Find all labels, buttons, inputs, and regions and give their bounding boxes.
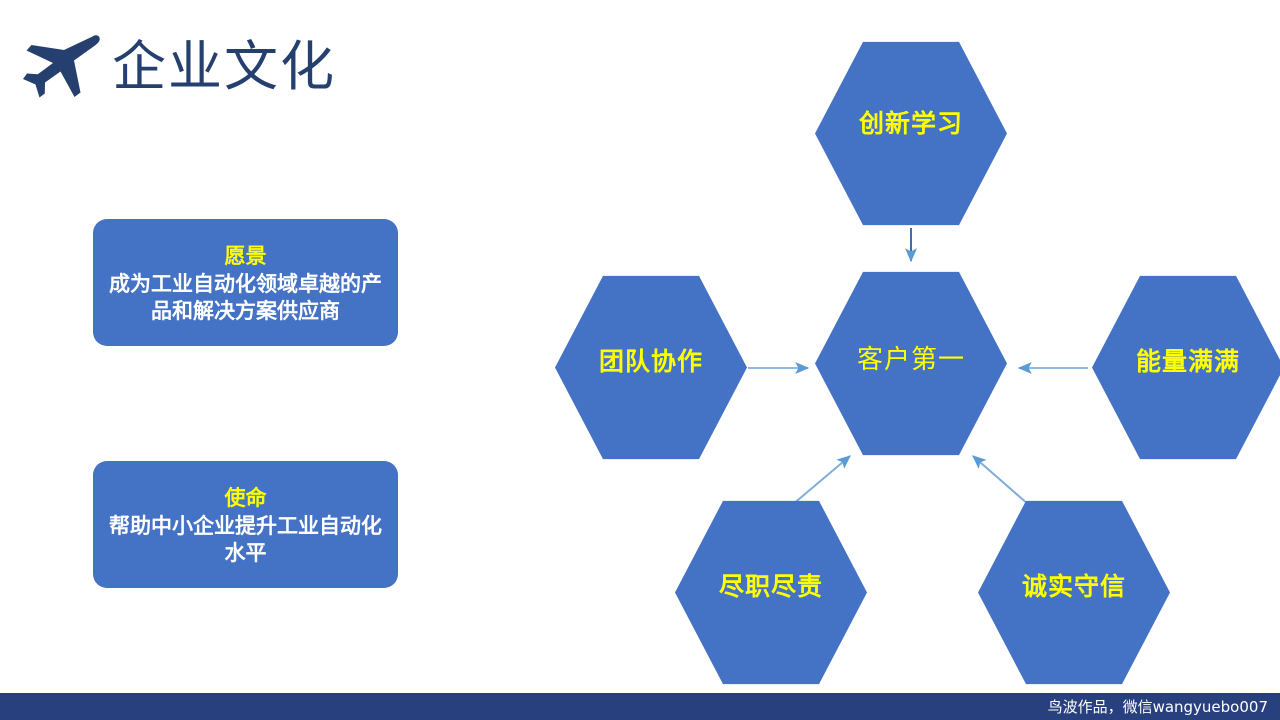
- airplane-icon: [16, 30, 108, 108]
- hex-node-label: 团队协作: [599, 347, 703, 377]
- vision-card-title: 愿景: [225, 243, 267, 270]
- hex-node-teamwork[interactable]: 团队协作: [555, 272, 747, 463]
- hex-node-innovation[interactable]: 创新学习: [815, 38, 1007, 229]
- page-title: 企业文化: [112, 31, 336, 103]
- hexagon-diagram: 创新学习 团队协作 客户第一 能量满满 尽职尽责 诚实守信: [540, 0, 1280, 700]
- hex-node-label: 尽职尽责: [719, 572, 823, 602]
- hex-node-label: 能量满满: [1136, 347, 1240, 377]
- vision-card-body: 成为工业自动化领域卓越的产品和解决方案供应商: [101, 271, 390, 325]
- hex-node-customer-first[interactable]: 客户第一: [815, 268, 1007, 459]
- connector-bottom-left-to-center: [792, 456, 850, 505]
- mission-card-title: 使命: [225, 485, 267, 512]
- slide-header: 企业文化: [0, 0, 540, 130]
- hex-node-label: 客户第一: [857, 345, 965, 375]
- mission-card: 使命 帮助中小企业提升工业自动化水平: [93, 461, 398, 588]
- connector-bottom-right-to-center: [973, 456, 1029, 505]
- hex-node-label: 诚实守信: [1022, 572, 1126, 602]
- footer-credit-text: 鸟波作品，微信wangyuebo007: [1048, 698, 1280, 716]
- hex-node-integrity[interactable]: 诚实守信: [978, 497, 1170, 688]
- hex-node-label: 创新学习: [859, 109, 963, 139]
- footer-bar: 鸟波作品，微信wangyuebo007: [0, 693, 1280, 720]
- vision-card: 愿景 成为工业自动化领域卓越的产品和解决方案供应商: [93, 219, 398, 346]
- hex-node-energy[interactable]: 能量满满: [1092, 272, 1280, 463]
- mission-card-body: 帮助中小企业提升工业自动化水平: [101, 513, 390, 567]
- hex-node-responsibility[interactable]: 尽职尽责: [675, 497, 867, 688]
- slide-canvas: 企业文化 愿景 成为工业自动化领域卓越的产品和解决方案供应商 使命 帮助中小企业…: [0, 0, 1280, 720]
